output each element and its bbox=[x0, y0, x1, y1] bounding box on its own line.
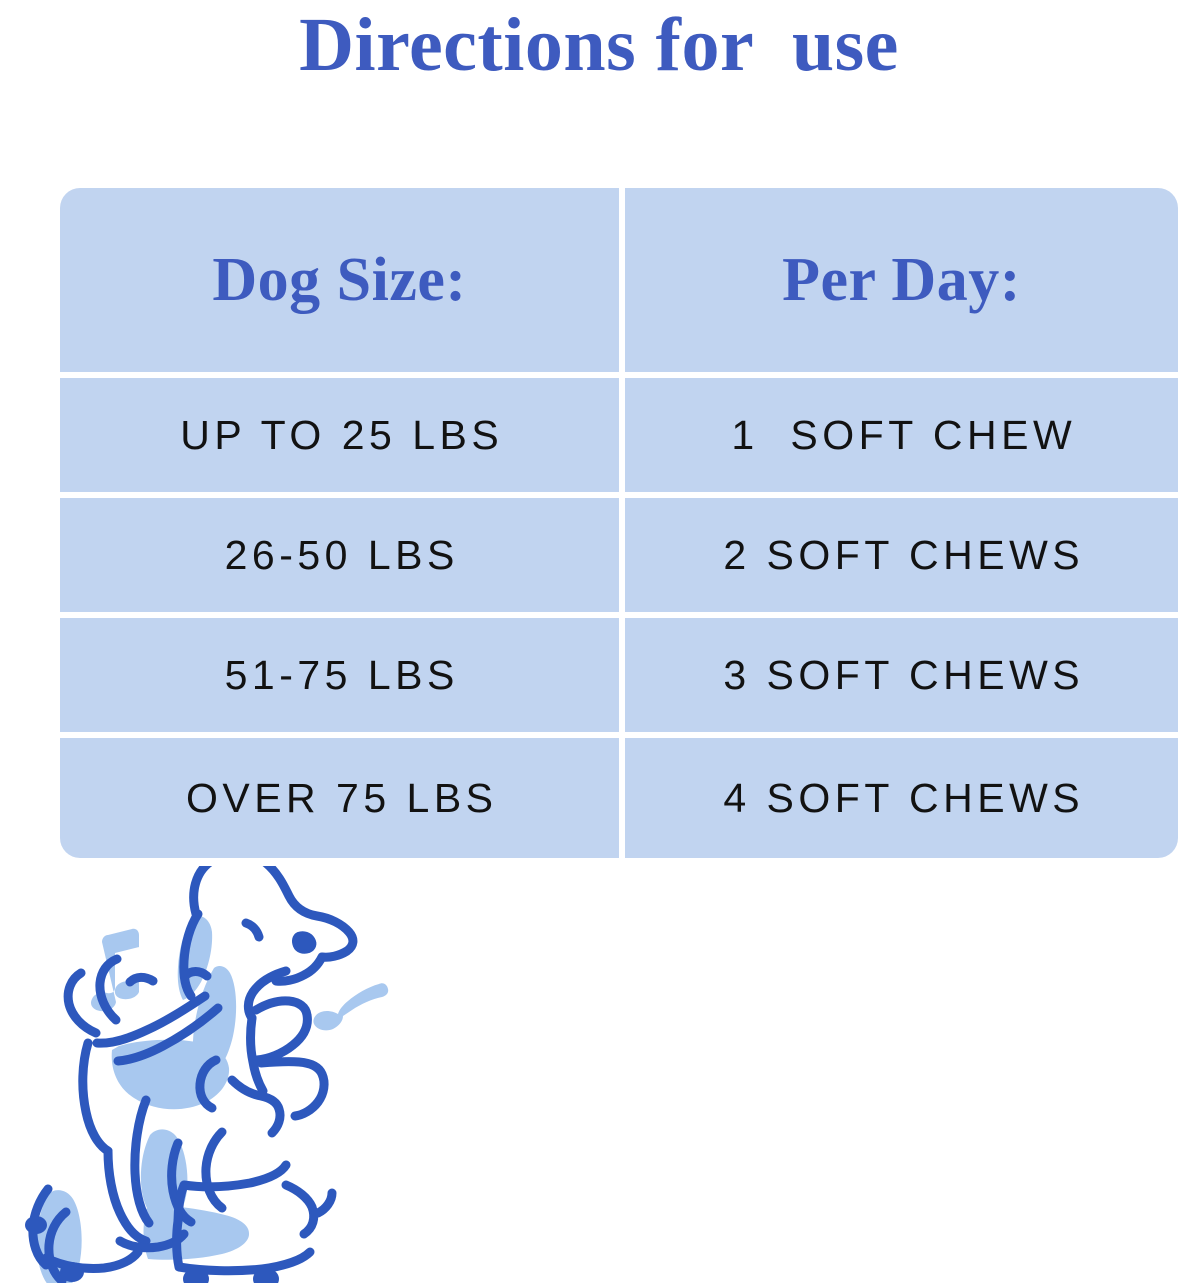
dog-head-outline bbox=[194, 866, 353, 981]
front-skate-toe bbox=[286, 1185, 314, 1234]
cell-per-day: 3 SOFT CHEWS bbox=[719, 652, 1084, 698]
front-skate-boot-fill bbox=[144, 1205, 250, 1260]
cell-dog-size: 51-75 LBS bbox=[220, 652, 459, 698]
table-header-dog-size: Dog Size: bbox=[60, 188, 625, 378]
music-note-single bbox=[313, 983, 388, 1030]
dog-front-leg-bent-lower bbox=[232, 1080, 280, 1133]
cell-per-day: 4 SOFT CHEWS bbox=[719, 775, 1084, 821]
table-row: 3 SOFT CHEWS bbox=[625, 618, 1178, 738]
table-row: 1 SOFT CHEW bbox=[625, 378, 1178, 498]
page-title: Directions for use bbox=[0, 2, 1198, 88]
illustration-fill-shapes bbox=[37, 916, 388, 1283]
dog-haunch bbox=[83, 1043, 108, 1151]
cell-dog-size: UP TO 25 LBS bbox=[176, 412, 503, 458]
dog-on-roller-skates-illustration bbox=[18, 866, 428, 1283]
cell-per-day: 2 SOFT CHEWS bbox=[719, 532, 1084, 578]
table-row: 51-75 LBS bbox=[60, 618, 625, 738]
dog-front-paw-upper bbox=[256, 1001, 307, 1060]
dog-illustration-svg bbox=[18, 866, 428, 1283]
dog-eye bbox=[246, 923, 259, 937]
cell-dog-size: OVER 75 LBS bbox=[181, 775, 497, 821]
cell-dog-size: 26-50 LBS bbox=[220, 532, 459, 578]
motion-swoosh bbox=[318, 1193, 332, 1213]
dog-nose bbox=[294, 933, 314, 952]
cell-per-day: 1 SOFT CHEW bbox=[727, 412, 1076, 458]
tail-flick-2 bbox=[185, 972, 207, 977]
tail-flick bbox=[130, 977, 153, 982]
table-row: 26-50 LBS bbox=[60, 498, 625, 618]
table-header-per-day: Per Day: bbox=[625, 188, 1178, 378]
table-row: 4 SOFT CHEWS bbox=[625, 738, 1178, 858]
table-row: 2 SOFT CHEWS bbox=[625, 498, 1178, 618]
table-row: UP TO 25 LBS bbox=[60, 378, 625, 498]
dog-front-leg-lower bbox=[261, 1062, 324, 1116]
back-skate-wheel-right bbox=[25, 1216, 47, 1234]
dog-front-raised-leg bbox=[206, 1132, 222, 1208]
body-patch bbox=[112, 1040, 229, 1109]
dosage-table: Dog Size: Per Day: UP TO 25 LBS 1 SOFT C… bbox=[60, 188, 1178, 858]
header-label-dog-size: Dog Size: bbox=[212, 248, 466, 312]
back-skate-wheel-left bbox=[60, 1262, 84, 1282]
table-row: OVER 75 LBS bbox=[60, 738, 625, 858]
dog-neck-front bbox=[251, 1018, 263, 1091]
header-label-per-day: Per Day: bbox=[782, 248, 1021, 312]
